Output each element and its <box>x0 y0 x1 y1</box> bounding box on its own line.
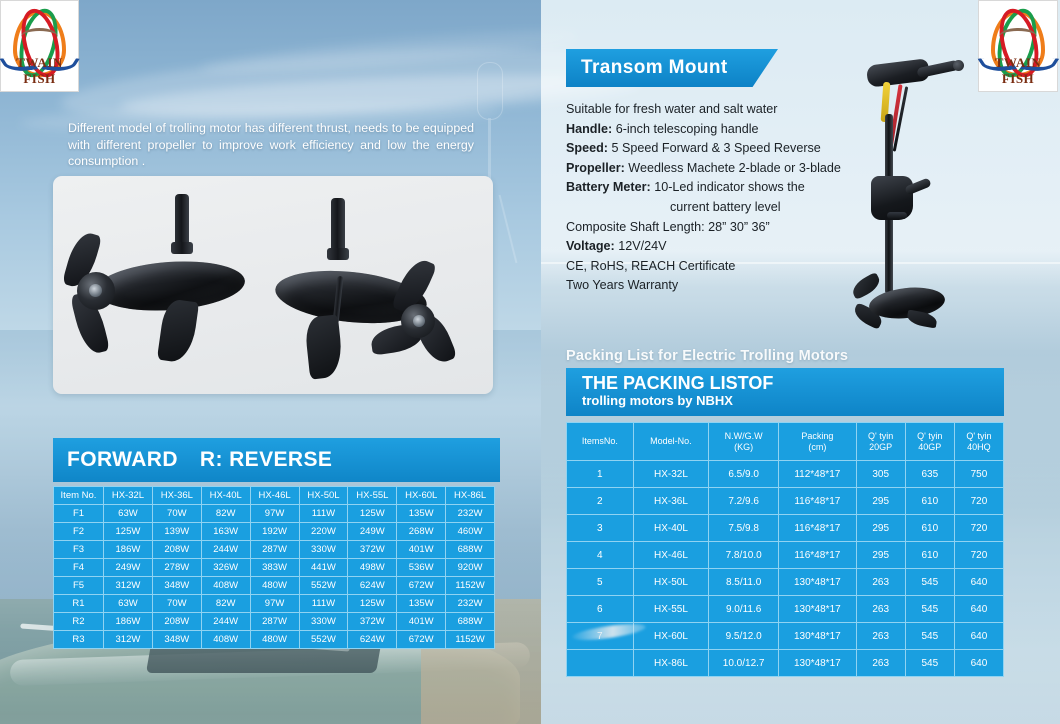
thrust-cell: 688W <box>446 541 495 559</box>
thrust-cell: 372W <box>348 541 397 559</box>
thrust-table-row: F4249W278W326W383W441W498W536W920W <box>54 559 495 577</box>
thrust-cell: 460W <box>446 523 495 541</box>
packing-cell: 130*48*17 <box>779 650 857 677</box>
spec-value: 12V/24V <box>618 239 666 253</box>
thrust-cell: 287W <box>250 541 299 559</box>
transom-mount-motor-illustration <box>845 52 995 342</box>
packing-cell: 640 <box>954 650 1003 677</box>
thrust-table-row: F3186W208W244W287W330W372W401W688W <box>54 541 495 559</box>
packing-cell: 263 <box>856 596 905 623</box>
thrust-cell: 208W <box>152 613 201 631</box>
thrust-cell: 244W <box>201 541 250 559</box>
packing-head-sub: trolling motors by NBHX <box>582 393 1004 409</box>
thrust-table-row: R163W70W82W97W111W125W135W232W <box>54 595 495 613</box>
thrust-cell: 125W <box>104 523 153 541</box>
packing-row-index: 3 <box>567 515 634 542</box>
thrust-row-label: R2 <box>54 613 104 631</box>
product-photo-card <box>53 176 493 394</box>
packing-cell: 640 <box>954 623 1003 650</box>
packing-cell: 7.5/9.8 <box>709 515 779 542</box>
packing-cell: 305 <box>856 461 905 488</box>
thrust-cell: 70W <box>152 505 201 523</box>
thrust-cell: 552W <box>299 631 348 649</box>
thrust-cell: 82W <box>201 595 250 613</box>
logo-artwork: TWAIN FISH <box>1 1 78 91</box>
thrust-cell: 232W <box>446 595 495 613</box>
thrust-cell: 672W <box>397 577 446 595</box>
thrust-cell: 441W <box>299 559 348 577</box>
thrust-cell: 920W <box>446 559 495 577</box>
logo-text: TWAIN FISH <box>1 55 78 87</box>
packing-cell: 640 <box>954 569 1003 596</box>
packing-cell: 6.5/9.0 <box>709 461 779 488</box>
packing-cell: 116*48*17 <box>779 542 857 569</box>
thrust-cell: 498W <box>348 559 397 577</box>
packing-cell: 610 <box>905 488 954 515</box>
brochure-page: TWAIN FISH TWAIN FISH Different model of… <box>0 0 1060 724</box>
thrust-cell: 672W <box>397 631 446 649</box>
thrust-cell: 163W <box>201 523 250 541</box>
packing-cell: HX-32L <box>633 461 709 488</box>
thrust-table: Item No.HX-32LHX-36LHX-40LHX-46LHX-50LHX… <box>53 486 495 649</box>
banner-forward-label: FORWARD <box>67 448 178 472</box>
packing-cell: 263 <box>856 569 905 596</box>
thrust-cell: 348W <box>152 631 201 649</box>
clamp-screw <box>887 212 907 219</box>
packing-cell: 263 <box>856 650 905 677</box>
packing-row-index: 1 <box>567 461 634 488</box>
thrust-row-label: F4 <box>54 559 104 577</box>
thrust-col-header-hx-86l: HX-86L <box>446 487 495 505</box>
packing-cell: 545 <box>905 596 954 623</box>
thrust-cell: 408W <box>201 631 250 649</box>
thrust-cell: 287W <box>250 613 299 631</box>
packing-cell: 263 <box>856 623 905 650</box>
spec-value: Suitable for fresh water and salt water <box>566 102 777 116</box>
thrust-cell: 97W <box>250 595 299 613</box>
thrust-col-header-hx-40l: HX-40L <box>201 487 250 505</box>
packing-cell: 116*48*17 <box>779 515 857 542</box>
thrust-cell: 139W <box>152 523 201 541</box>
thrust-cell: 348W <box>152 577 201 595</box>
packing-table-row: 5HX-50L8.5/11.0130*48*17263545640 <box>567 569 1004 596</box>
thrust-cell: 63W <box>104 505 153 523</box>
packing-col-header-q-tyin-40gp: Q' tyin40GP <box>905 423 954 461</box>
thrust-row-label: F3 <box>54 541 104 559</box>
spec-label: Battery Meter: <box>566 180 651 194</box>
thrust-cell: 312W <box>104 631 153 649</box>
transom-mount-title: Transom Mount <box>581 57 728 79</box>
thrust-cell: 125W <box>348 505 397 523</box>
packing-cell: 610 <box>905 515 954 542</box>
packing-cell: HX-86L <box>633 650 709 677</box>
packing-cell: 8.5/11.0 <box>709 569 779 596</box>
thrust-cell: 1152W <box>446 577 495 595</box>
thrust-cell: 372W <box>348 613 397 631</box>
packing-cell: 130*48*17 <box>779 623 857 650</box>
packing-cell: 545 <box>905 569 954 596</box>
spec-value: Weedless Machete 2-blade or 3-blade <box>628 161 841 175</box>
thrust-cell: 186W <box>104 613 153 631</box>
spec-value: 10-Led indicator shows the <box>654 180 805 194</box>
packing-cell: 7.2/9.6 <box>709 488 779 515</box>
thrust-table-row: F2125W139W163W192W220W249W268W460W <box>54 523 495 541</box>
packing-cell: 720 <box>954 542 1003 569</box>
thrust-row-label: R1 <box>54 595 104 613</box>
thrust-cell: 1152W <box>446 631 495 649</box>
packing-cell: HX-50L <box>633 569 709 596</box>
thrust-col-header-hx-55l: HX-55L <box>348 487 397 505</box>
propeller-nut <box>89 284 102 297</box>
thrust-col-header-hx-46l: HX-46L <box>250 487 299 505</box>
thrust-cell: 70W <box>152 595 201 613</box>
packing-cell: 116*48*17 <box>779 488 857 515</box>
thrust-col-header-hx-36l: HX-36L <box>152 487 201 505</box>
packing-cell: 610 <box>905 542 954 569</box>
spec-value: 5 Speed Forward & 3 Speed Reverse <box>612 141 821 155</box>
thrust-cell: 624W <box>348 577 397 595</box>
thrust-cell: 208W <box>152 541 201 559</box>
packing-table-row: 3HX-40L7.5/9.8116*48*17295610720 <box>567 515 1004 542</box>
thrust-cell: 688W <box>446 613 495 631</box>
thrust-col-header-hx-32l: HX-32L <box>104 487 153 505</box>
packing-col-header-itemsno: ItemsNo. <box>567 423 634 461</box>
thrust-cell: 232W <box>446 505 495 523</box>
thrust-table-header-row: Item No.HX-32LHX-36LHX-40LHX-46LHX-50LHX… <box>54 487 495 505</box>
packing-cell: 130*48*17 <box>779 569 857 596</box>
packing-head-main: THE PACKING LISTOF <box>582 373 1004 393</box>
thrust-cell: 401W <box>397 541 446 559</box>
motor-collar <box>171 242 193 254</box>
thrust-row-label: F2 <box>54 523 104 541</box>
thrust-cell: 244W <box>201 613 250 631</box>
packing-cell: HX-36L <box>633 488 709 515</box>
thrust-cell: 536W <box>397 559 446 577</box>
thrust-col-header-hx-60l: HX-60L <box>397 487 446 505</box>
thrust-table-row: F5312W348W408W480W552W624W672W1152W <box>54 577 495 595</box>
thrust-table-row: R3312W348W408W480W552W624W672W1152W <box>54 631 495 649</box>
thrust-cell: 135W <box>397 595 446 613</box>
packing-cell: 10.0/12.7 <box>709 650 779 677</box>
banner-reverse-label: R: REVERSE <box>200 448 332 472</box>
thrust-cell: 312W <box>104 577 153 595</box>
packing-table-row: 6HX-55L9.0/11.6130*48*17263545640 <box>567 596 1004 623</box>
packing-table-row: HX-86L10.0/12.7130*48*17263545640 <box>567 650 1004 677</box>
spec-value: Two Years Warranty <box>566 278 678 292</box>
thrust-cell: 220W <box>299 523 348 541</box>
spec-label: Handle: <box>566 122 612 136</box>
thrust-row-label: F5 <box>54 577 104 595</box>
packing-col-header-n-w-g-w-kg: N.W/G.W(KG) <box>709 423 779 461</box>
propeller-nut <box>413 315 425 327</box>
motor-skeg-fin <box>906 310 938 329</box>
spec-label: Voltage: <box>566 239 615 253</box>
thrust-cell: 326W <box>201 559 250 577</box>
packing-cell: 7.8/10.0 <box>709 542 779 569</box>
thrust-cell: 268W <box>397 523 446 541</box>
packing-cell: HX-46L <box>633 542 709 569</box>
packing-cell: 130*48*17 <box>779 596 857 623</box>
spec-value: Composite Shaft Length: 28” 30” 36” <box>566 220 770 234</box>
packing-table-row: 4HX-46L7.8/10.0116*48*17295610720 <box>567 542 1004 569</box>
packing-row-index: 2 <box>567 488 634 515</box>
packing-table: ItemsNo.Model-No.N.W/G.W(KG)Packing(cm)Q… <box>566 422 1004 677</box>
spec-label: Propeller: <box>566 161 625 175</box>
thrust-cell: 401W <box>397 613 446 631</box>
packing-cell: 295 <box>856 542 905 569</box>
thrust-table-row: F163W70W82W97W111W125W135W232W <box>54 505 495 523</box>
thrust-cell: 624W <box>348 631 397 649</box>
packing-col-header-q-tyin-20gp: Q' tyin20GP <box>856 423 905 461</box>
motor-collar <box>327 248 349 260</box>
transom-mount-banner: Transom Mount <box>566 49 778 87</box>
thrust-cell: 278W <box>152 559 201 577</box>
thrust-cell: 192W <box>250 523 299 541</box>
packing-table-header-row: ItemsNo.Model-No.N.W/G.W(KG)Packing(cm)Q… <box>567 423 1004 461</box>
packing-cell: 9.5/12.0 <box>709 623 779 650</box>
thrust-cell: 249W <box>348 523 397 541</box>
thrust-cell: 330W <box>299 613 348 631</box>
spec-value: CE, RoHS, REACH Certificate <box>566 259 735 273</box>
packing-cell: 112*48*17 <box>779 461 857 488</box>
packing-cell: 640 <box>954 596 1003 623</box>
packing-row-index: 5 <box>567 569 634 596</box>
thrust-cell: 82W <box>201 505 250 523</box>
handle-end-cap <box>953 60 964 71</box>
packing-cell: HX-40L <box>633 515 709 542</box>
thrust-cell: 552W <box>299 577 348 595</box>
spec-value: 6-inch telescoping handle <box>616 122 759 136</box>
packing-col-header-q-tyin-40hq: Q' tyin40HQ <box>954 423 1003 461</box>
packing-table-row: 2HX-36L7.2/9.6116*48*17295610720 <box>567 488 1004 515</box>
thrust-cell: 111W <box>299 505 348 523</box>
ghost-motor-head <box>477 62 503 120</box>
thrust-cell: 97W <box>250 505 299 523</box>
ghost-motor-leg <box>499 195 518 263</box>
packing-row-index <box>567 650 634 677</box>
packing-cell: 295 <box>856 488 905 515</box>
thrust-cell: 249W <box>104 559 153 577</box>
twain-fish-logo-left: TWAIN FISH <box>0 0 79 92</box>
packing-cell: 545 <box>905 623 954 650</box>
thrust-cell: 111W <box>299 595 348 613</box>
motor-skeg-fin <box>304 314 344 379</box>
packing-col-header-model-no: Model-No. <box>633 423 709 461</box>
thrust-cell: 480W <box>250 631 299 649</box>
packing-col-header-packing-cm: Packing(cm) <box>779 423 857 461</box>
packing-cell: 545 <box>905 650 954 677</box>
thrust-cell: 330W <box>299 541 348 559</box>
spec-value: current battery level <box>670 200 781 214</box>
thrust-cell: 186W <box>104 541 153 559</box>
packing-cell: 720 <box>954 488 1003 515</box>
packing-row-index: 6 <box>567 596 634 623</box>
thrust-cell: 135W <box>397 505 446 523</box>
packing-cell: 9.0/11.6 <box>709 596 779 623</box>
thrust-cell: 63W <box>104 595 153 613</box>
packing-list-header-band: THE PACKING LISTOF trolling motors by NB… <box>566 368 1004 416</box>
packing-cell: 720 <box>954 515 1003 542</box>
thrust-table-row: R2186W208W244W287W330W372W401W688W <box>54 613 495 631</box>
packing-cell: 295 <box>856 515 905 542</box>
forward-reverse-banner: FORWARD R: REVERSE <box>53 438 500 482</box>
thrust-col-header-item-no: Item No. <box>54 487 104 505</box>
packing-table-row: 1HX-32L6.5/9.0112*48*17305635750 <box>567 461 1004 488</box>
spec-label: Speed: <box>566 141 608 155</box>
thrust-cell: 125W <box>348 595 397 613</box>
thrust-row-label: F1 <box>54 505 104 523</box>
packing-list-caption: Packing List for Electric Trolling Motor… <box>566 348 966 364</box>
thrust-cell: 480W <box>250 577 299 595</box>
packing-cell: HX-55L <box>633 596 709 623</box>
thrust-cell: 383W <box>250 559 299 577</box>
packing-cell: 635 <box>905 461 954 488</box>
packing-row-index: 4 <box>567 542 634 569</box>
thrust-cell: 408W <box>201 577 250 595</box>
thrust-row-label: R3 <box>54 631 104 649</box>
thrust-col-header-hx-50l: HX-50L <box>299 487 348 505</box>
packing-cell: 750 <box>954 461 1003 488</box>
intro-paragraph: Different model of trolling motor has di… <box>68 120 474 170</box>
